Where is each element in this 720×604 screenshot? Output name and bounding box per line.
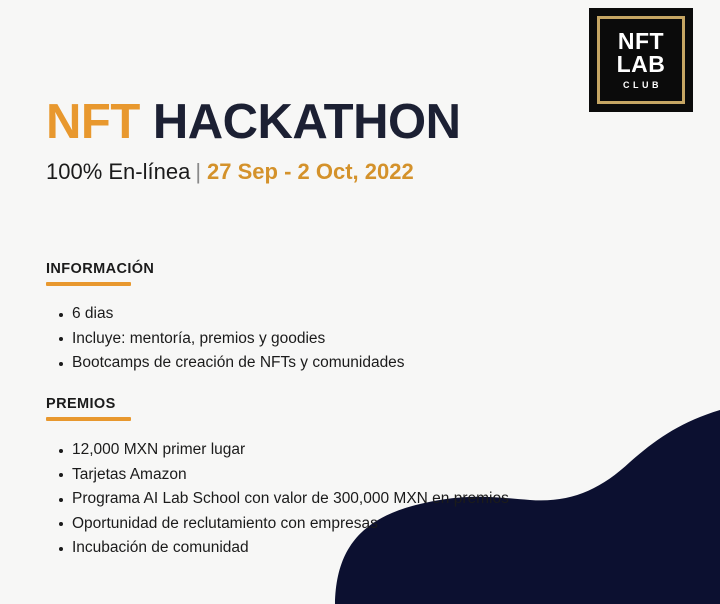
list-item: Bootcamps de creación de NFTs y comunida… <box>46 351 405 376</box>
section-premios-heading: PREMIOS <box>46 395 509 413</box>
section-informacion: INFORMACIÓN 6 dias Incluye: mentoría, pr… <box>46 260 405 376</box>
section-informacion-heading: INFORMACIÓN <box>46 260 405 278</box>
logo-line-nft: NFT <box>618 30 664 53</box>
page-title-main: HACKATHON <box>140 95 461 149</box>
list-item: 12,000 MXN primer lugar <box>46 438 509 463</box>
subtitle-dates: 27 Sep - 2 Oct, 2022 <box>207 159 414 184</box>
list-item: Oportunidad de reclutamiento con empresa… <box>46 512 509 537</box>
subtitle: 100% En-línea|27 Sep - 2 Oct, 2022 <box>46 158 414 186</box>
list-item: Incluye: mentoría, premios y goodies <box>46 327 405 352</box>
flyer-canvas: NFT LAB CLUB NFT HACKATHON 100% En-línea… <box>0 0 720 604</box>
section-informacion-underline <box>46 282 131 286</box>
section-premios-list: 12,000 MXN primer lugar Tarjetas Amazon … <box>46 438 509 561</box>
list-item: 6 dias <box>46 302 405 327</box>
logo-line-lab: LAB <box>617 53 666 76</box>
list-item: Programa AI Lab School con valor de 300,… <box>46 487 509 512</box>
logo-line-club: CLUB <box>620 79 662 91</box>
logo-gold-frame: NFT LAB CLUB <box>597 16 685 104</box>
subtitle-separator: | <box>195 159 201 184</box>
page-title: NFT HACKATHON <box>46 96 460 148</box>
section-premios: PREMIOS 12,000 MXN primer lugar Tarjetas… <box>46 395 509 561</box>
subtitle-mode: 100% En-línea <box>46 159 190 184</box>
list-item: Tarjetas Amazon <box>46 463 509 488</box>
section-premios-underline <box>46 417 131 421</box>
nft-lab-club-logo: NFT LAB CLUB <box>589 8 693 112</box>
page-title-accent: NFT <box>46 95 140 149</box>
section-informacion-list: 6 dias Incluye: mentoría, premios y good… <box>46 302 405 376</box>
list-item: Incubación de comunidad <box>46 536 509 561</box>
